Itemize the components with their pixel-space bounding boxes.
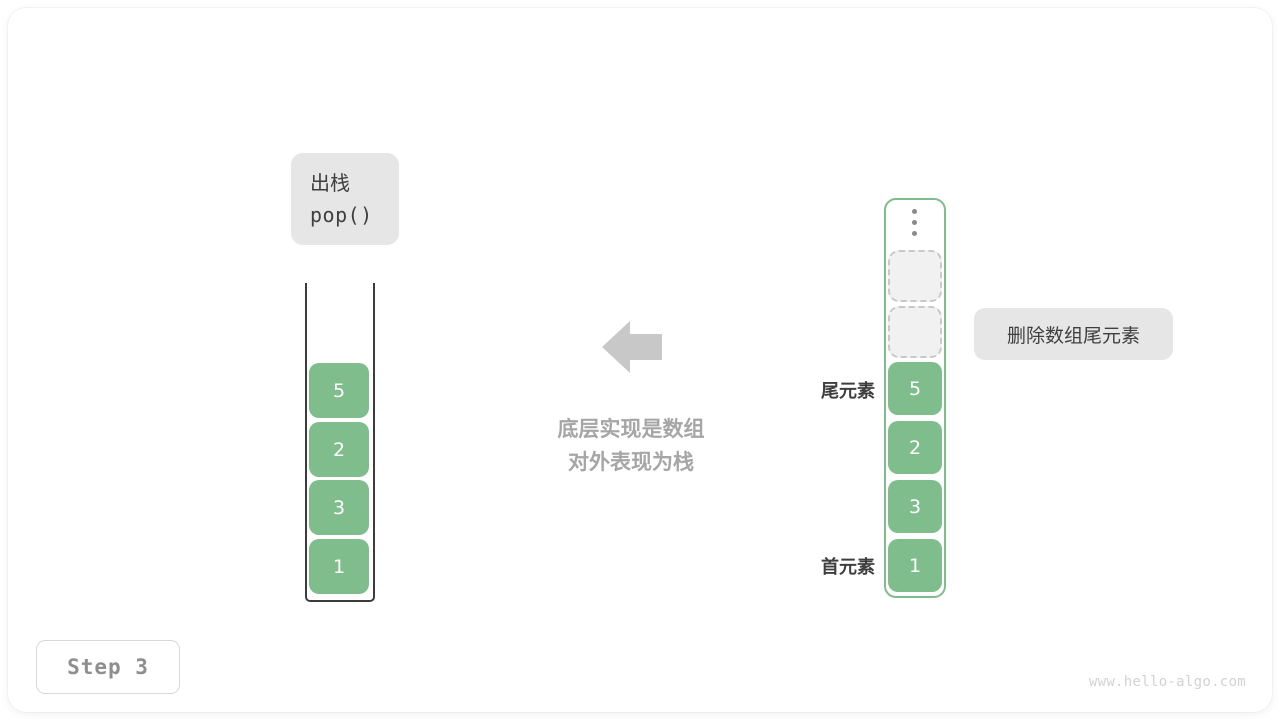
delete-tail-note: 删除数组尾元素 [974, 308, 1173, 360]
pop-operation-label: 出栈 pop() [291, 153, 399, 245]
watermark: www.hello-algo.com [1089, 674, 1246, 690]
step-badge: Step 3 [36, 640, 180, 694]
diagram-canvas: 出栈 pop() 5 2 3 1 底层实现是数组 对外表现为栈 5 2 3 1 [0, 0, 1280, 720]
array-cell-value: 1 [909, 555, 921, 577]
center-caption: 底层实现是数组 对外表现为栈 [500, 413, 762, 479]
array-cell: 5 [888, 362, 942, 415]
array-cell-value: 3 [909, 496, 921, 518]
stack-cell-value: 2 [333, 439, 345, 461]
head-element-label: 首元素 [755, 553, 875, 579]
array-cell-value: 5 [909, 378, 921, 400]
stack-cell-value: 3 [333, 497, 345, 519]
stack-cell-value: 1 [333, 556, 345, 578]
array-empty-slot [888, 250, 942, 302]
array-empty-slot [888, 306, 942, 358]
stack-cell-value: 5 [333, 380, 345, 402]
left-arrow-icon [602, 316, 662, 378]
pop-label-line2: pop() [310, 199, 373, 231]
caption-line2: 对外表现为栈 [500, 446, 762, 479]
array-cell: 2 [888, 421, 942, 474]
array-cell: 3 [888, 480, 942, 533]
stack-cell: 2 [309, 422, 369, 477]
array-cell: 1 [888, 539, 942, 592]
stack-cell: 5 [309, 363, 369, 418]
vertical-ellipsis-icon [910, 209, 918, 237]
pop-label-line1: 出栈 [310, 167, 350, 199]
array-cell-value: 2 [909, 437, 921, 459]
stack-cell: 1 [309, 539, 369, 594]
tail-element-label: 尾元素 [755, 377, 875, 403]
caption-line1: 底层实现是数组 [500, 413, 762, 446]
stack-cell: 3 [309, 480, 369, 535]
